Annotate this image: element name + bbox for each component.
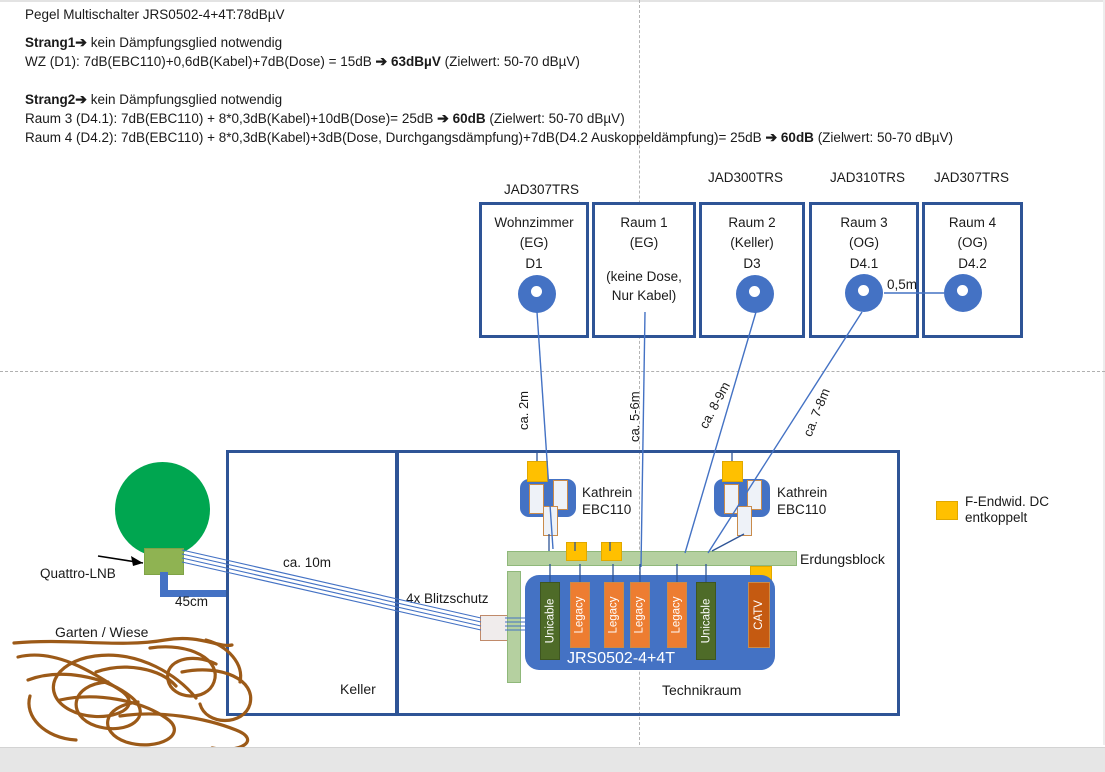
wz-result: 63dBµV (387, 54, 441, 69)
room-socket-label: D1 (482, 254, 586, 274)
blitzschutz-block-icon (480, 615, 508, 641)
room-box-raum3: Raum 3 (OG) D4.1 (809, 202, 919, 338)
f-terminator-icon (566, 542, 587, 561)
port-label: Legacy (608, 596, 620, 633)
room-box-raum1: Raum 1 (EG) (keine Dose, Nur Kabel) (592, 202, 696, 338)
legend-line2: entkoppelt (965, 510, 1049, 526)
room-socket-label: D4.2 (925, 254, 1020, 274)
socket-d42 (944, 274, 982, 312)
note-level-text: Pegel Multischalter JRS0502-4+4T:78dBµV (25, 7, 285, 22)
cable-length-2: ca. 5-6m (627, 391, 642, 442)
grass-scribble-icon (14, 638, 251, 749)
socket-d41 (845, 274, 883, 312)
cable-length-4: ca. 7-8m (800, 386, 833, 439)
raum4-calc-text: Raum 4 (D4.2): 7dB(EBC110) + 8*0,3dB(Kab… (25, 130, 765, 145)
quattro-lnb-icon (144, 548, 184, 575)
horizontal-guide-line (0, 371, 1105, 372)
room-name: Raum 1 (595, 213, 693, 233)
strang1-text: kein Dämpfungsglied notwendig (87, 35, 282, 50)
label-quattro-lnb: Quattro-LNB (40, 566, 116, 581)
raum3-result: 60dB (449, 111, 486, 126)
room-name: Raum 2 (702, 213, 802, 233)
msw-port-catv: CATV (748, 582, 770, 648)
label-keller: Keller (340, 681, 376, 697)
diagram-canvas: Pegel Multischalter JRS0502-4+4T:78dBµV … (0, 0, 1105, 772)
strang2-arrow-icon: ➔ (75, 91, 87, 107)
jad-label-raum3: JAD310TRS (830, 170, 905, 185)
legend-text: F-Endwid. DC entkoppelt (965, 494, 1049, 526)
port-label: Legacy (574, 596, 586, 633)
note-wz: WZ (D1): 7dB(EBC110)+0,6dB(Kabel)+7dB(Do… (25, 53, 580, 70)
cable-length-3: ca. 8-9m (696, 379, 733, 431)
room-name: Wohnzimmer (482, 213, 586, 233)
jad-label-wohnzimmer: JAD307TRS (504, 182, 579, 197)
port-label: Unicable (544, 599, 556, 644)
note-strang1: Strang1➔ kein Dämpfungsglied notwendig (25, 34, 282, 51)
msw-port-unicable-1: Unicable (540, 582, 560, 660)
port-label: Unicable (700, 599, 712, 644)
raum4-target: (Zielwert: 50-70 dBµV) (814, 130, 953, 145)
raum3-arrow-icon: ➔ (437, 110, 449, 126)
jad-label-raum2: JAD300TRS (708, 170, 783, 185)
label-cable-run-10m: ca. 10m (283, 555, 331, 570)
earth-rail-horizontal (507, 551, 797, 566)
dim-between-sockets: 0,5m (887, 277, 917, 292)
legend-swatch-f-terminator (936, 501, 958, 520)
strang2-text: kein Dämpfungsglied notwendig (87, 92, 282, 107)
room-note: (keine Dose, Nur Kabel) (595, 268, 693, 306)
msw-port-legacy-2: Legacy (604, 582, 624, 648)
multiswitch-model-label: JRS0502-4+4T (567, 650, 675, 668)
amp1-model: EBC110 (582, 502, 632, 519)
legend-line1: F-Endwid. DC (965, 494, 1049, 510)
amp2-brand: Kathrein (777, 485, 827, 502)
room-box-raum4: Raum 4 (OG) D4.2 (922, 202, 1023, 338)
socket-d3 (736, 275, 774, 313)
label-blitzschutz: 4x Blitzschutz (406, 591, 489, 606)
raum3-calc-text: Raum 3 (D4.1): 7dB(EBC110) + 8*0,3dB(Kab… (25, 111, 437, 126)
page-bottom-strip (0, 747, 1105, 772)
satellite-dish-icon (115, 462, 210, 557)
room-floor: (OG) (925, 233, 1020, 253)
earth-rail-vertical (507, 571, 521, 683)
amp1-port-out (543, 506, 558, 536)
label-erdungsblock: Erdungsblock (800, 551, 885, 567)
room-name: Raum 4 (925, 213, 1020, 233)
amp1-port-left (529, 484, 544, 514)
f-terminator-icon (601, 542, 622, 561)
note-raum4: Raum 4 (D4.2): 7dB(EBC110) + 8*0,3dB(Kab… (25, 129, 953, 146)
amp1-label: Kathrein EBC110 (582, 485, 632, 519)
wz-calc-text: WZ (D1): 7dB(EBC110)+0,6dB(Kabel)+7dB(Do… (25, 54, 376, 69)
note-raum3: Raum 3 (D4.1): 7dB(EBC110) + 8*0,3dB(Kab… (25, 110, 625, 127)
amp2-model: EBC110 (777, 502, 827, 519)
note-level-line: Pegel Multischalter JRS0502-4+4T:78dBµV (25, 7, 285, 23)
label-garten: Garten / Wiese (55, 624, 148, 640)
wz-arrow-icon: ➔ (376, 53, 388, 69)
f-terminator-icon (722, 461, 743, 482)
room-name: Raum 3 (812, 213, 916, 233)
room-floor: (EG) (482, 233, 586, 253)
building-keller-left (226, 450, 398, 716)
strang1-label: Strang1 (25, 35, 75, 50)
raum4-arrow-icon: ➔ (765, 129, 777, 145)
amp2-label: Kathrein EBC110 (777, 485, 827, 519)
room-socket-label: D4.1 (812, 254, 916, 274)
page-top-edge (0, 0, 1105, 2)
f-terminator-icon (527, 461, 548, 482)
cable-length-1: ca. 2m (516, 391, 531, 430)
room-floor: (OG) (812, 233, 916, 253)
port-label: Legacy (634, 596, 646, 633)
msw-port-legacy-1: Legacy (570, 582, 590, 648)
port-label: CATV (753, 600, 765, 630)
raum3-target: (Zielwert: 50-70 dBµV) (486, 111, 625, 126)
strang2-label: Strang2 (25, 92, 75, 107)
room-box-wohnzimmer: Wohnzimmer (EG) D1 (479, 202, 589, 338)
amp1-brand: Kathrein (582, 485, 632, 502)
msw-port-legacy-3: Legacy (630, 582, 650, 648)
strang1-arrow-icon: ➔ (75, 34, 87, 50)
room-socket-label: D3 (702, 254, 802, 274)
room-floor: (Keller) (702, 233, 802, 253)
room-floor: (EG) (595, 233, 693, 253)
jad-label-raum4: JAD307TRS (934, 170, 1009, 185)
msw-port-unicable-2: Unicable (696, 582, 716, 660)
label-technikraum: Technikraum (662, 682, 741, 698)
port-label: Legacy (671, 596, 683, 633)
socket-d1 (518, 275, 556, 313)
raum4-result: 60dB (777, 130, 814, 145)
dim-mast-45cm: 45cm (175, 594, 208, 609)
note-strang2: Strang2➔ kein Dämpfungsglied notwendig (25, 91, 282, 108)
msw-port-legacy-4: Legacy (667, 582, 687, 648)
room-box-raum2: Raum 2 (Keller) D3 (699, 202, 805, 338)
wz-target: (Zielwert: 50-70 dBµV) (441, 54, 580, 69)
lnb-pointer-arrow (98, 556, 143, 566)
amp2-port-out (737, 506, 752, 536)
